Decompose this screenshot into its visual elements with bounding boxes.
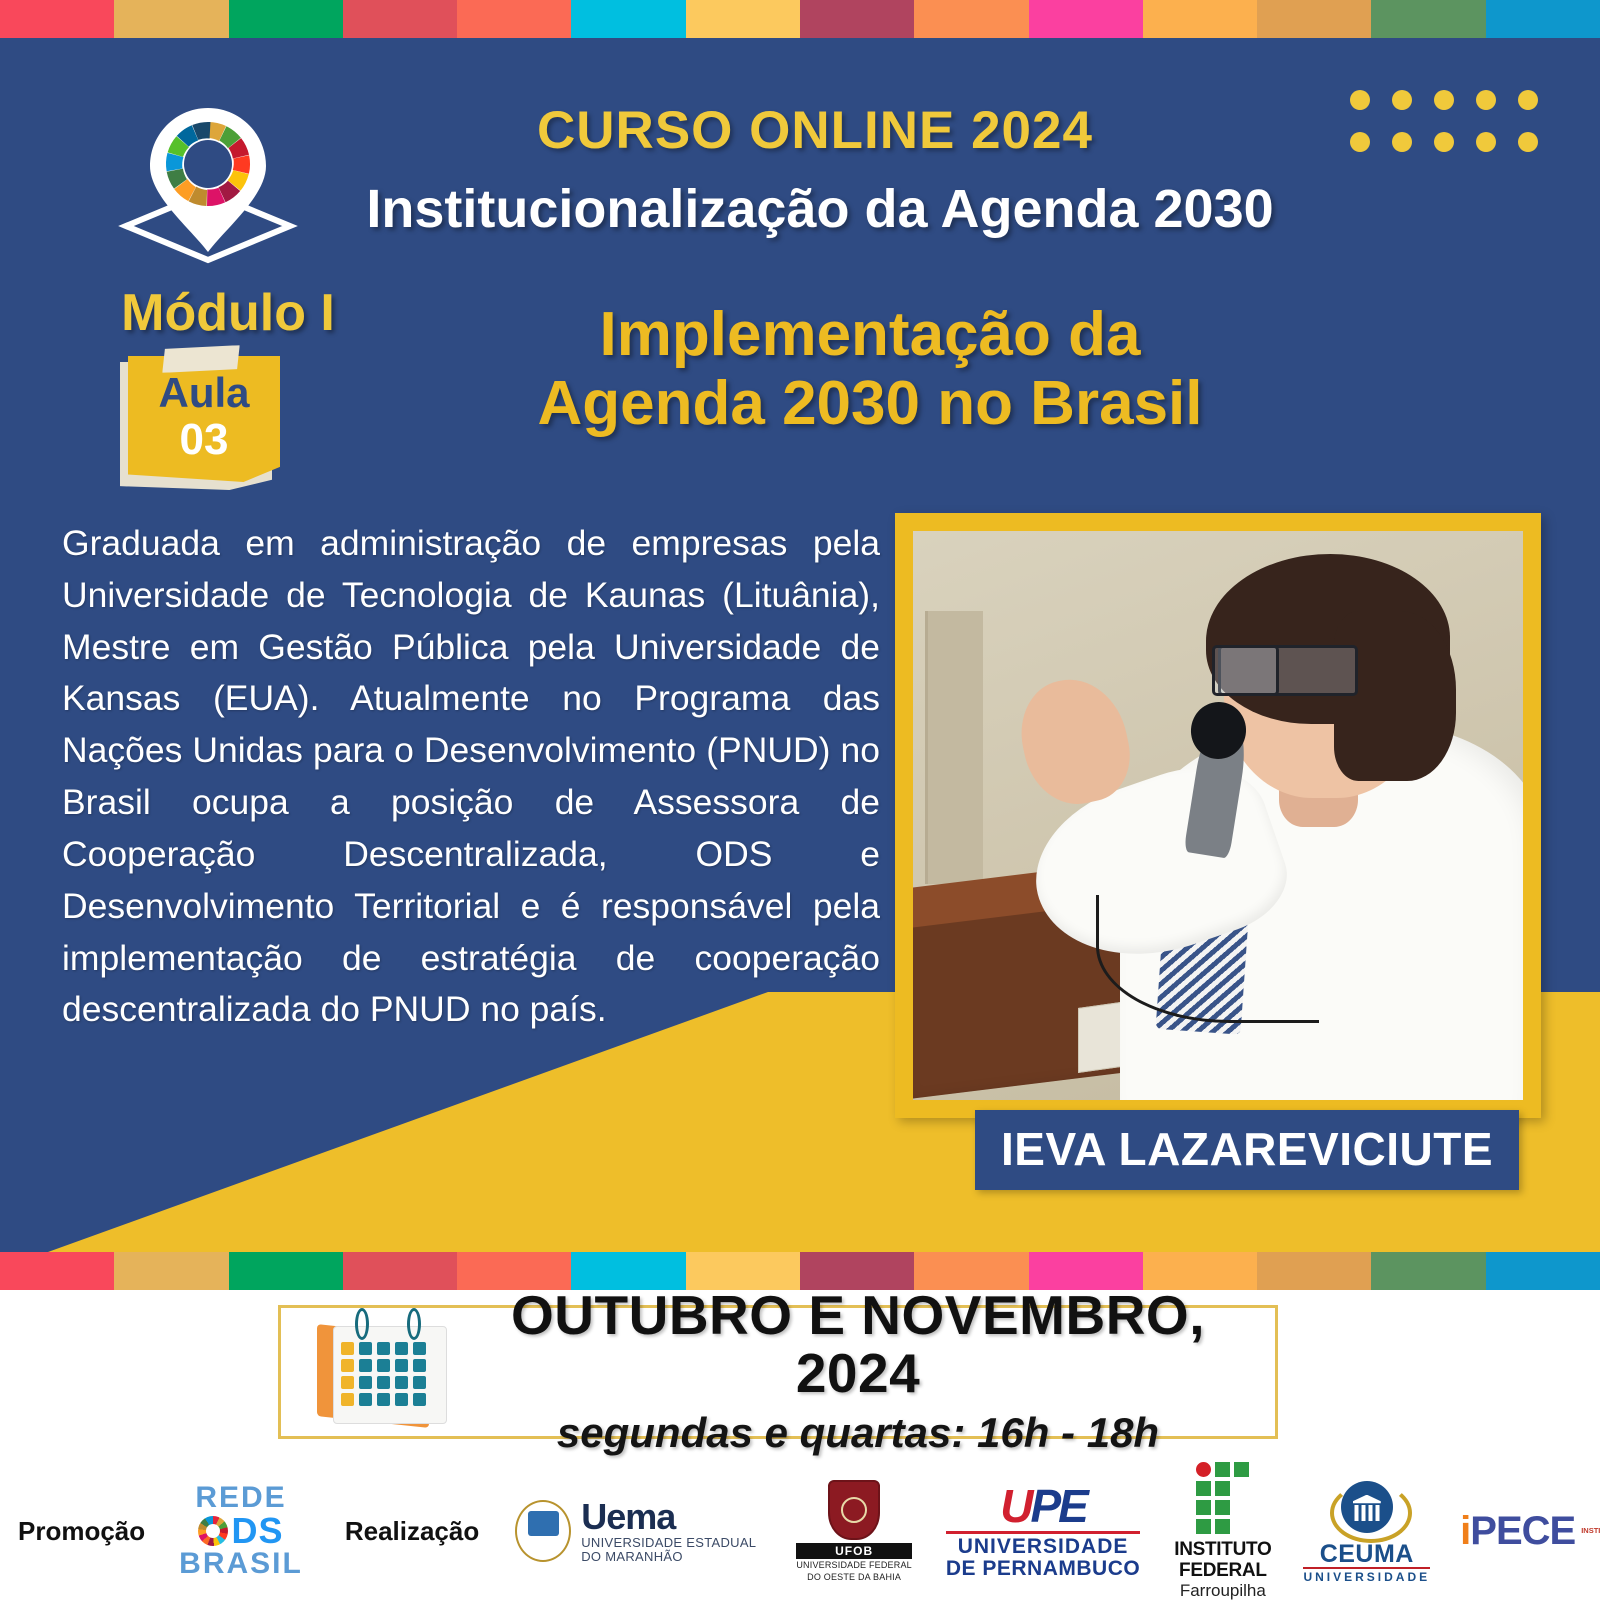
color-stripe: [1371, 1252, 1485, 1290]
calendar-grid: [341, 1342, 427, 1406]
color-stripe: [571, 0, 685, 38]
main-navy-panel: CURSO ONLINE 2024 Institucionalização da…: [0, 38, 1600, 1252]
subject-line-2: Agenda 2030 no Brasil: [430, 369, 1310, 438]
color-stripe: [343, 0, 457, 38]
color-stripe: [686, 0, 800, 38]
speaker-photo-frame: [895, 513, 1541, 1118]
calendar-cell: [413, 1359, 426, 1372]
calendar-cell: [341, 1342, 354, 1355]
color-stripe: [229, 0, 343, 38]
color-stripe: [457, 0, 571, 38]
lesson-word: Aula: [128, 372, 280, 414]
color-stripe: [914, 1252, 1028, 1290]
realizacao-label: Realização: [345, 1516, 479, 1547]
color-stripe: [1486, 0, 1600, 38]
ufob-logo: UFOB UNIVERSIDADE FEDERAL DO OESTE DA BA…: [796, 1480, 912, 1582]
decor-dot: [1518, 90, 1538, 110]
decor-dot: [1434, 90, 1454, 110]
dot-grid-decoration: [1350, 90, 1538, 152]
course-kicker: CURSO ONLINE 2024: [255, 100, 1375, 161]
subject-title: Implementação da Agenda 2030 no Brasil: [430, 300, 1310, 439]
calendar-cell: [341, 1393, 354, 1406]
rede-ods-brasil-logo: REDE DS BRASIL: [179, 1483, 303, 1579]
color-stripe: [1486, 1252, 1600, 1290]
calendar-cell: [395, 1359, 408, 1372]
color-stripe: [1257, 0, 1371, 38]
ipece-mark-rest: PECE: [1470, 1509, 1575, 1553]
calendar-cell: [377, 1359, 390, 1372]
color-stripe: [914, 0, 1028, 38]
color-stripe: [800, 0, 914, 38]
calendar-cell: [341, 1376, 354, 1389]
promo-label: Promoção: [18, 1516, 145, 1547]
photo-wall-frame: [925, 611, 983, 884]
calendar-cell: [413, 1393, 426, 1406]
speaker-photo: [913, 531, 1523, 1100]
decor-dot: [1434, 132, 1454, 152]
calendar-cell: [359, 1359, 372, 1372]
photo-glasses-lens-2: [1212, 645, 1279, 697]
sticky-note-icon: Aula 03: [128, 356, 280, 484]
subject-line-1: Implementação da: [430, 300, 1310, 369]
ceuma-name: CEUMA: [1303, 1541, 1430, 1567]
decor-dot: [1392, 132, 1412, 152]
footer-logos: Promoção REDE DS BRASIL Realização Uema …: [0, 1462, 1600, 1600]
rede-ods-line2: DS: [231, 1513, 283, 1549]
schedule-days-time: segundas e quartas: 16h - 18h: [461, 1409, 1255, 1457]
upe-mark-u: U: [1000, 1480, 1030, 1532]
rede-ods-line1: REDE: [179, 1483, 303, 1513]
calendar-cell: [359, 1342, 372, 1355]
calendar-cell: [413, 1342, 426, 1355]
ceuma-logo: CEUMA UNIVERSIDADE: [1303, 1479, 1430, 1584]
lesson-number: 03: [128, 418, 280, 462]
ods-wheel-icon: [198, 1516, 228, 1546]
color-stripe: [0, 1252, 114, 1290]
color-stripe: [229, 1252, 343, 1290]
color-stripe: [1371, 0, 1485, 38]
calendar-ring: [355, 1308, 369, 1340]
decor-dot: [1518, 132, 1538, 152]
decor-dot: [1476, 90, 1496, 110]
ipece-logo: iPECE INSTITUTO DE PESQUISA E ESTRATÉGIA…: [1460, 1509, 1600, 1554]
ceuma-crest-icon: [1330, 1479, 1404, 1541]
calendar-cell: [359, 1393, 372, 1406]
calendar-cell: [377, 1376, 390, 1389]
ufob-band: UFOB: [796, 1543, 912, 1560]
calendar-cell: [359, 1376, 372, 1389]
upe-line2: DE PERNAMBUCO: [946, 1558, 1140, 1580]
color-stripe: [114, 0, 228, 38]
course-title: Institucionalização da Agenda 2030: [255, 178, 1385, 240]
schedule-box: OUTUBRO E NOVEMBRO, 2024 segundas e quar…: [278, 1305, 1278, 1439]
upe-line1: UNIVERSIDADE: [946, 1531, 1140, 1558]
ufob-sub1: UNIVERSIDADE FEDERAL: [796, 1561, 912, 1570]
ipece-wordmark: iPECE: [1460, 1509, 1575, 1554]
color-stripe: [114, 1252, 228, 1290]
ipece-mark-i: i: [1460, 1509, 1470, 1553]
top-color-stripe-bar: [0, 0, 1600, 38]
module-label: Módulo I: [78, 283, 378, 343]
schedule-text: OUTUBRO E NOVEMBRO, 2024 segundas e quar…: [461, 1287, 1275, 1457]
calendar-cell: [395, 1342, 408, 1355]
color-stripe: [1029, 1252, 1143, 1290]
schedule-months: OUTUBRO E NOVEMBRO, 2024: [461, 1287, 1255, 1403]
decor-dot: [1392, 90, 1412, 110]
stripe-row-top: [0, 0, 1600, 38]
instituto-federal-logo: INSTITUTO FEDERAL Farroupilha: [1174, 1462, 1271, 1600]
color-stripe: [1029, 0, 1143, 38]
color-stripe: [1257, 1252, 1371, 1290]
calendar-cell: [413, 1376, 426, 1389]
rede-ods-line3: BRASIL: [179, 1549, 303, 1579]
ceuma-sub: UNIVERSIDADE: [1303, 1567, 1430, 1584]
calendar-cell: [341, 1359, 354, 1372]
color-stripe: [571, 1252, 685, 1290]
bottom-color-stripe-bar: [0, 1252, 1600, 1290]
poster-root: CURSO ONLINE 2024 Institucionalização da…: [0, 0, 1600, 1600]
if-line1: INSTITUTO: [1174, 1540, 1271, 1561]
color-stripe: [686, 1252, 800, 1290]
upe-mark-pe: PE: [1030, 1480, 1085, 1532]
uema-sub2: DO MARANHÃO: [581, 1550, 756, 1564]
color-stripe: [1143, 1252, 1257, 1290]
uema-sub1: UNIVERSIDADE ESTADUAL: [581, 1536, 756, 1550]
calendar-cell: [395, 1376, 408, 1389]
color-stripe: [1143, 0, 1257, 38]
if-mark-icon: [1174, 1462, 1271, 1534]
ipece-sub: INSTITUTO DE PESQUISA E ESTRATÉGIA ECONÔ…: [1581, 1526, 1600, 1535]
uema-name: Uema: [581, 1498, 756, 1536]
ufob-sub2: DO OESTE DA BAHIA: [796, 1573, 912, 1582]
color-stripe: [343, 1252, 457, 1290]
calendar-icon: [311, 1316, 461, 1428]
color-stripe: [800, 1252, 914, 1290]
color-stripe: [0, 0, 114, 38]
stripe-row-bottom: [0, 1252, 1600, 1290]
calendar-cell: [377, 1393, 390, 1406]
ufob-shield-icon: [828, 1480, 880, 1540]
color-stripe: [457, 1252, 571, 1290]
speaker-name-plate: IEVA LAZAREVICIUTE: [975, 1110, 1519, 1190]
uema-logo: Uema UNIVERSIDADE ESTADUAL DO MARANHÃO: [515, 1498, 756, 1563]
speaker-bio: Graduada em administração de empresas pe…: [62, 518, 880, 1036]
decor-dot: [1476, 132, 1496, 152]
calendar-cell: [395, 1393, 408, 1406]
calendar-ring: [407, 1308, 421, 1340]
if-line2: FEDERAL: [1174, 1561, 1271, 1582]
uema-crest-icon: [515, 1500, 571, 1562]
if-line3: Farroupilha: [1174, 1582, 1271, 1600]
upe-logo: UPE UNIVERSIDADE DE PERNAMBUCO: [946, 1482, 1140, 1579]
calendar-cell: [377, 1342, 390, 1355]
upe-monogram-icon: UPE: [946, 1482, 1140, 1530]
